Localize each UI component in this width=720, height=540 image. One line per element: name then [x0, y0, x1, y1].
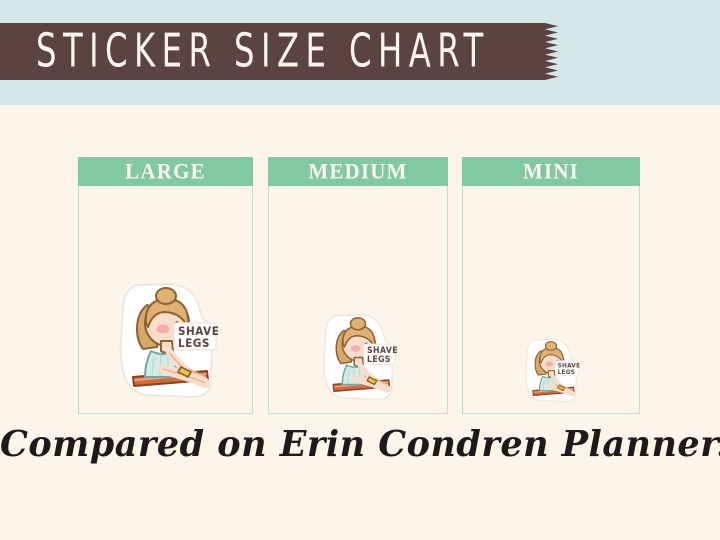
sticker-slot-mini: SHAVE LEGS [463, 186, 639, 413]
sticker-size-chart-page: STICKER SIZE CHART LARGE [0, 0, 720, 540]
size-card-mini[interactable]: MINI [462, 157, 640, 414]
size-card-header-large: LARGE [78, 157, 253, 186]
size-card-medium[interactable]: MEDIUM [268, 157, 448, 414]
size-card-body-large: SHAVE LEGS [78, 186, 253, 414]
sticker-image-large: SHAVE LEGS [111, 279, 221, 407]
sticker-slot-medium: SHAVE LEGS [269, 186, 447, 413]
size-card-header-medium: MEDIUM [268, 157, 448, 186]
svg-text:LEGS: LEGS [558, 369, 576, 376]
size-card-label-medium: MEDIUM [308, 158, 407, 184]
sticker-image-mini: SHAVE LEGS [521, 337, 582, 407]
svg-text:LEGS: LEGS [367, 355, 391, 365]
size-card-body-medium: SHAVE LEGS [268, 186, 448, 414]
sticker-image-medium: SHAVE LEGS [317, 311, 400, 407]
size-card-label-large: LARGE [125, 158, 206, 184]
svg-text:LEGS: LEGS [178, 336, 210, 350]
comparison-caption: Compared on Erin Condren Planner. [0, 424, 720, 466]
sticker-slot-large: SHAVE LEGS [79, 186, 252, 413]
size-card-header-mini: MINI [462, 157, 640, 186]
size-card-body-mini: SHAVE LEGS [462, 186, 640, 414]
size-card-label-mini: MINI [523, 158, 579, 184]
size-card-large[interactable]: LARGE [78, 157, 253, 414]
